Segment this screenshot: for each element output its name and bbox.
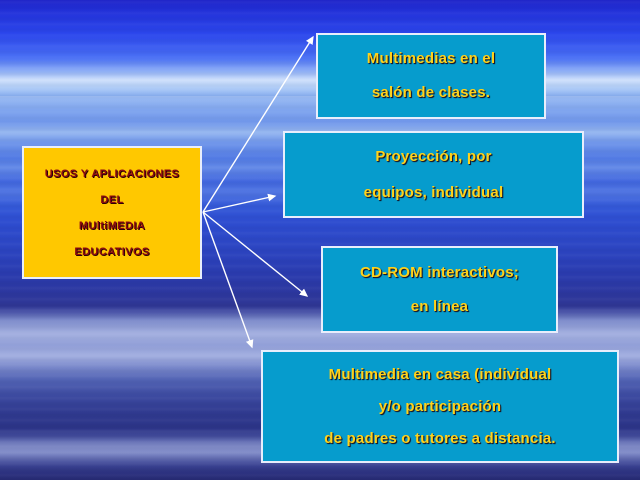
- classroom-line-1: Multimedias en el: [318, 42, 544, 76]
- home-line-1: Multimedia en casa (individual: [263, 359, 617, 391]
- presentation-slide: USOS Y APLICACIONES DEL MUltiMEDIA EDUCA…: [0, 0, 640, 480]
- root-line-2: DEL: [24, 187, 200, 213]
- cdrom-box[interactable]: CD-ROM interactivos; en línea: [321, 246, 558, 333]
- root-concept-box[interactable]: USOS Y APLICACIONES DEL MUltiMEDIA EDUCA…: [22, 146, 202, 279]
- cdrom-line-1: CD-ROM interactivos;: [323, 256, 556, 290]
- arrow-to-projection: [203, 196, 275, 212]
- home-box[interactable]: Multimedia en casa (individual y/o parti…: [261, 350, 619, 463]
- home-line-2: y/o participación: [263, 391, 617, 423]
- projection-box[interactable]: Proyección, por equipos, individual: [283, 131, 584, 218]
- classroom-box[interactable]: Multimedias en el salón de clases.: [316, 33, 546, 119]
- classroom-line-2: salón de clases.: [318, 76, 544, 110]
- root-line-3: MUltiMEDIA: [24, 213, 200, 239]
- projection-line-2: equipos, individual: [285, 175, 582, 211]
- root-line-1: USOS Y APLICACIONES: [24, 161, 200, 187]
- home-line-3: de padres o tutores a distancia.: [263, 423, 617, 455]
- root-line-4: EDUCATIVOS: [24, 239, 200, 265]
- projection-line-1: Proyección, por: [285, 139, 582, 175]
- cdrom-line-2: en línea: [323, 290, 556, 324]
